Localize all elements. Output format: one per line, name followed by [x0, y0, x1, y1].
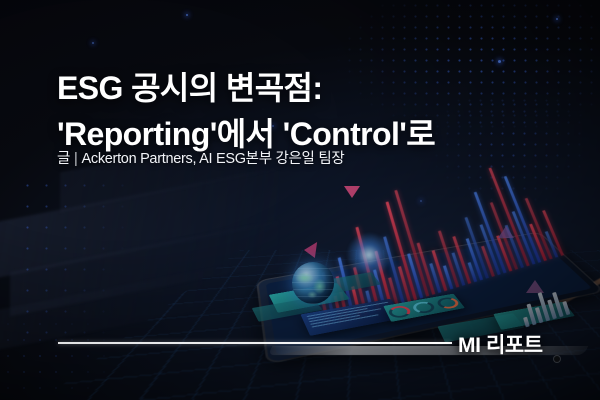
brand-logo: MI 리포트 — [458, 329, 543, 359]
byline-separator: | — [74, 151, 77, 167]
page-title: ESG 공시의 변곡점: 'Reporting'에서 'Control'로 — [57, 65, 577, 157]
headline-line-1: ESG 공시의 변곡점: — [57, 70, 322, 106]
byline-author: Ackerton Partners, AI ESG본부 강은일 팀장 — [82, 151, 345, 167]
byline: 글|Ackerton Partners, AI ESG본부 강은일 팀장 — [57, 147, 344, 168]
report-cover-banner: ESG 공시의 변곡점: 'Reporting'에서 'Control'로 글|… — [0, 0, 600, 400]
brand-rule — [58, 342, 452, 344]
byline-prefix: 글 — [57, 151, 70, 167]
